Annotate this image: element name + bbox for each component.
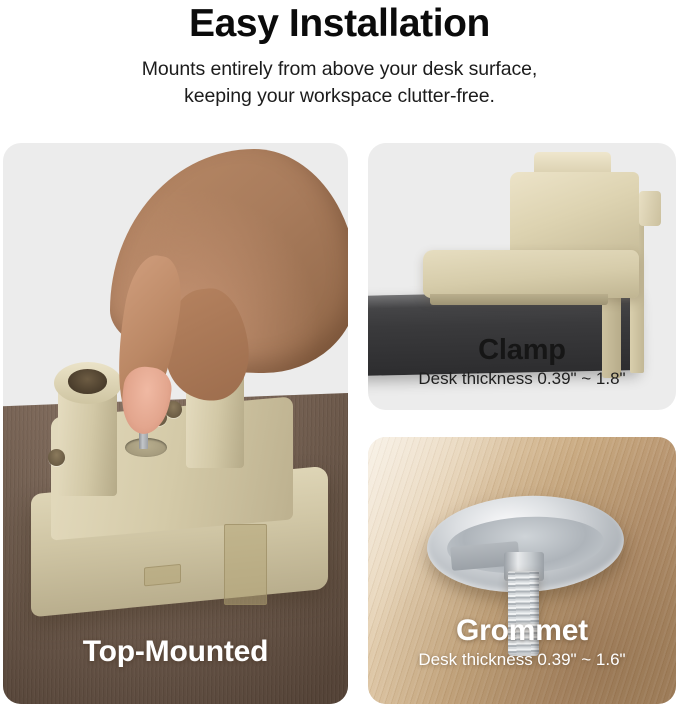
caption-spec: Desk thickness 0.39" ~ 1.8" xyxy=(368,367,676,390)
screw-hole-icon xyxy=(48,449,65,466)
page-subtitle: Mounts entirely from above your desk sur… xyxy=(0,46,679,110)
caption-grommet: Grommet Desk thickness 0.39" ~ 1.6" xyxy=(368,614,676,671)
header: Easy Installation Mounts entirely from a… xyxy=(0,0,679,110)
scene-top-mounted xyxy=(3,143,348,704)
caption-title: Clamp xyxy=(368,334,676,367)
panel-top-mounted[interactable]: Top-Mounted xyxy=(3,143,348,704)
caption-title: Grommet xyxy=(368,614,676,648)
clamp-head xyxy=(510,172,639,257)
caption-title: Top-Mounted xyxy=(3,635,348,669)
panel-grommet[interactable]: Grommet Desk thickness 0.39" ~ 1.6" xyxy=(368,437,676,704)
mount-base-foot xyxy=(224,524,267,605)
caption-spec: Desk thickness 0.39" ~ 1.6" xyxy=(368,648,676,671)
panel-clamp[interactable]: Clamp Desk thickness 0.39" ~ 1.8" xyxy=(368,143,676,410)
page-subtitle-line-2: keeping your workspace clutter-free. xyxy=(184,85,495,107)
caption-top-mounted: Top-Mounted xyxy=(3,635,348,669)
page-subtitle-line-1: Mounts entirely from above your desk sur… xyxy=(142,58,537,80)
clamp-contact-pad xyxy=(430,294,609,305)
mount-post-left xyxy=(58,373,117,496)
clamp-knob xyxy=(639,191,661,226)
clamp-upper-arm xyxy=(423,250,639,298)
page-title: Easy Installation xyxy=(0,0,679,46)
caption-clamp: Clamp Desk thickness 0.39" ~ 1.8" xyxy=(368,334,676,390)
